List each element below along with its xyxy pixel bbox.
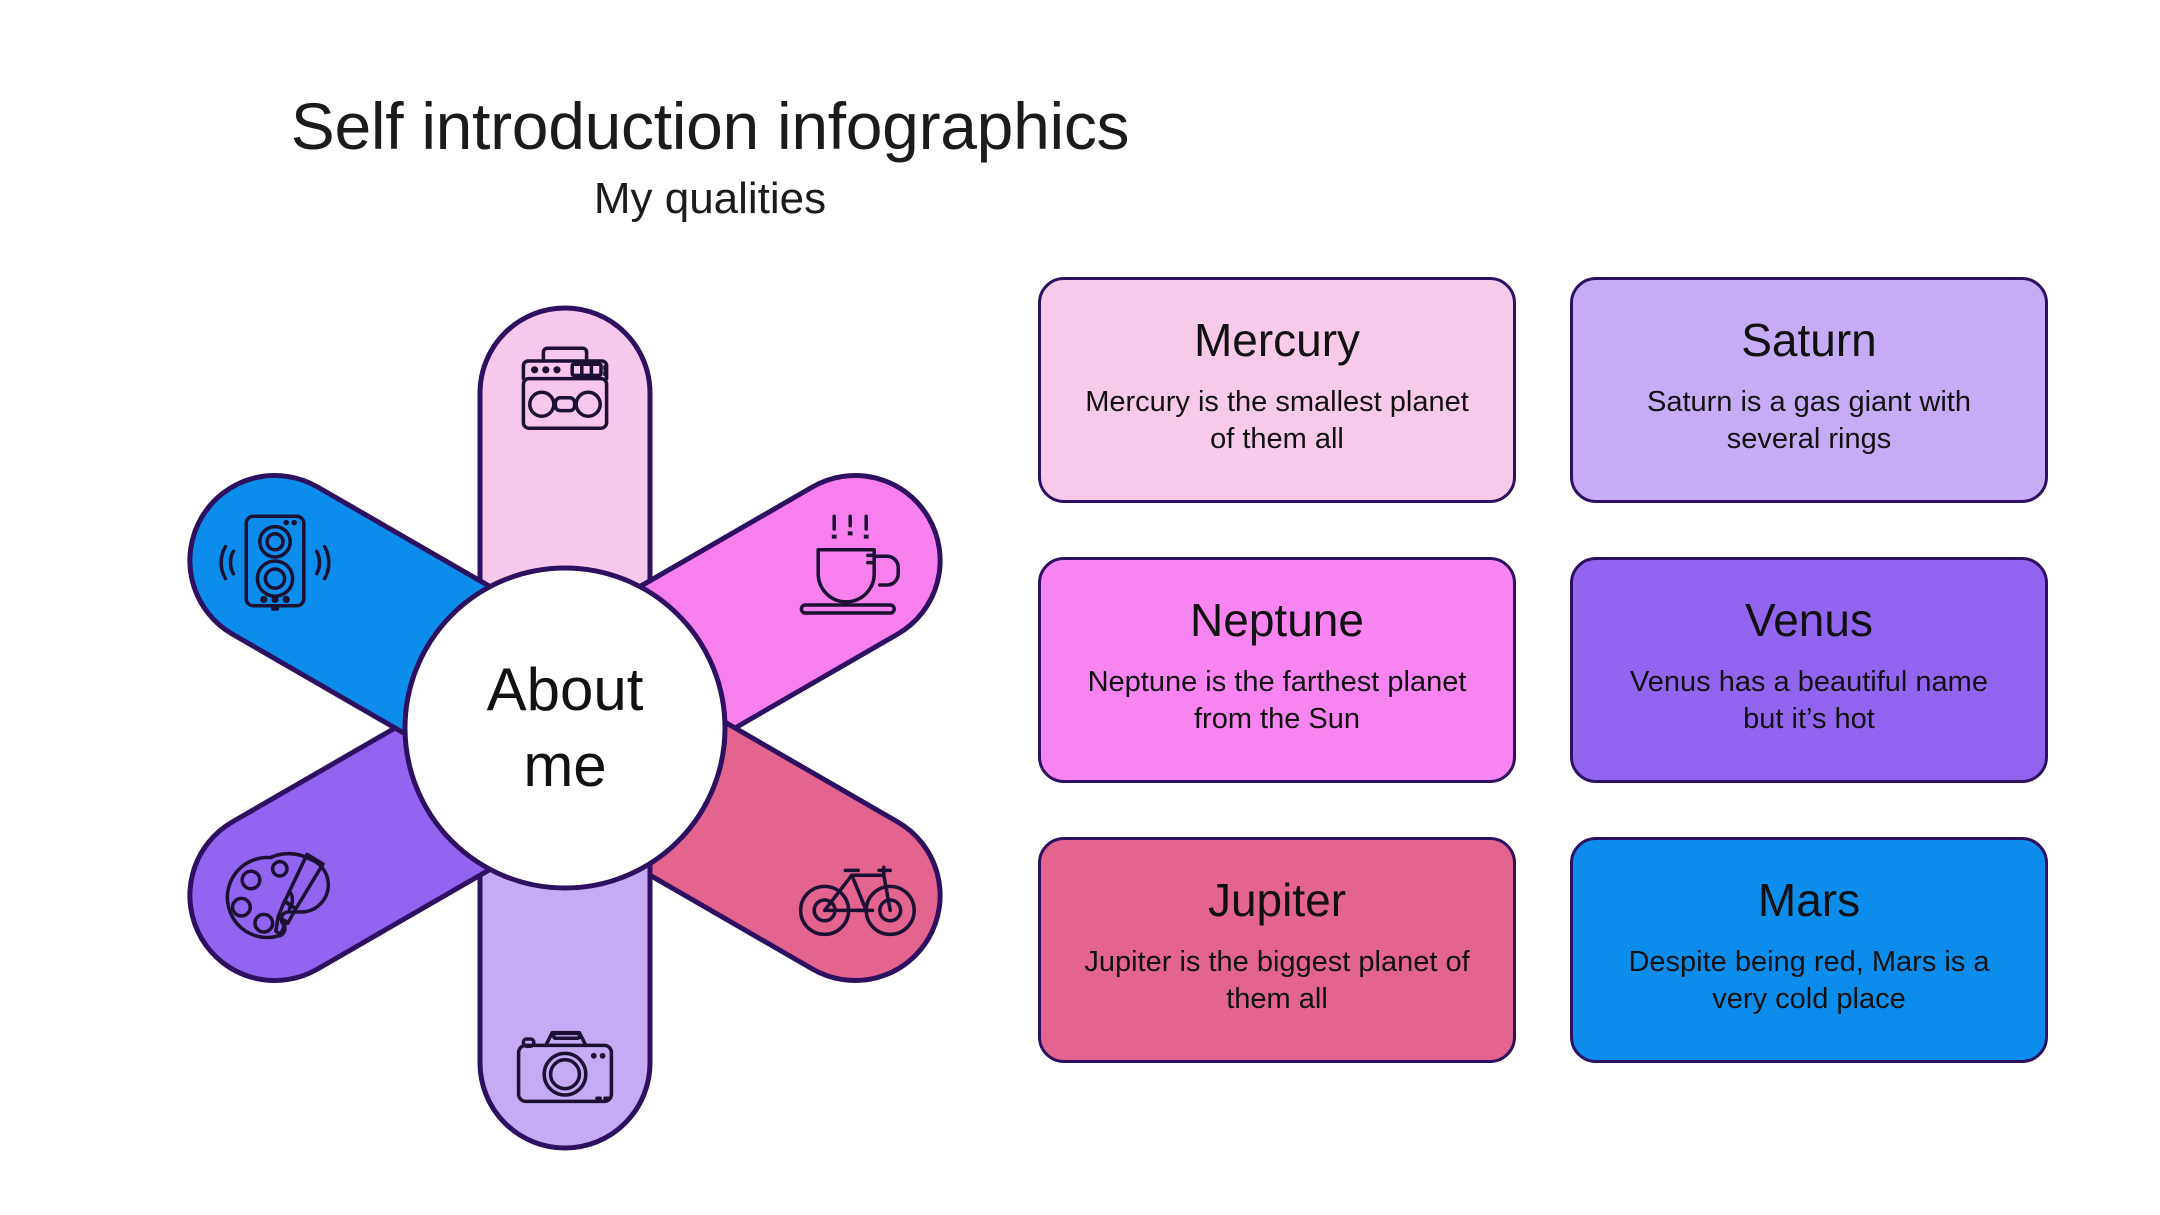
qualities-card-grid: Mercury Mercury is the smallest planet o… xyxy=(1038,277,2048,1087)
card-neptune[interactable]: Neptune Neptune is the farthest planet f… xyxy=(1038,557,1516,783)
page-title: Self introduction infographics xyxy=(0,92,1420,162)
card-title: Neptune xyxy=(1190,596,1364,644)
card-title: Jupiter xyxy=(1208,876,1346,924)
card-title: Saturn xyxy=(1741,316,1877,364)
page-subtitle: My qualities xyxy=(0,175,1420,223)
card-mercury[interactable]: Mercury Mercury is the smallest planet o… xyxy=(1038,277,1516,503)
card-title: Mercury xyxy=(1194,316,1360,364)
infographic-slide: Self introduction infographics My qualit… xyxy=(0,0,2160,1215)
header: Self introduction infographics My qualit… xyxy=(0,92,1420,223)
card-description: Venus has a beautiful name but it’s hot xyxy=(1609,664,2009,738)
card-jupiter[interactable]: Jupiter Jupiter is the biggest planet of… xyxy=(1038,837,1516,1063)
card-description: Jupiter is the biggest planet of them al… xyxy=(1077,944,1477,1018)
card-description: Despite being red, Mars is a very cold p… xyxy=(1609,944,2009,1018)
card-saturn[interactable]: Saturn Saturn is a gas giant with severa… xyxy=(1570,277,2048,503)
card-description: Saturn is a gas giant with several rings xyxy=(1609,384,2009,458)
card-description: Neptune is the farthest planet from the … xyxy=(1077,664,1477,738)
hub-label-line1: About xyxy=(487,656,644,723)
card-mars[interactable]: Mars Despite being red, Mars is a very c… xyxy=(1570,837,2048,1063)
about-me-hub[interactable]: About me xyxy=(405,568,725,888)
about-me-flower-diagram: About me xyxy=(160,248,970,1108)
card-title: Venus xyxy=(1745,596,1873,644)
card-venus[interactable]: Venus Venus has a beautiful name but it’… xyxy=(1570,557,2048,783)
hub-label-line2: me xyxy=(523,732,606,799)
card-description: Mercury is the smallest planet of them a… xyxy=(1077,384,1477,458)
card-title: Mars xyxy=(1758,876,1860,924)
